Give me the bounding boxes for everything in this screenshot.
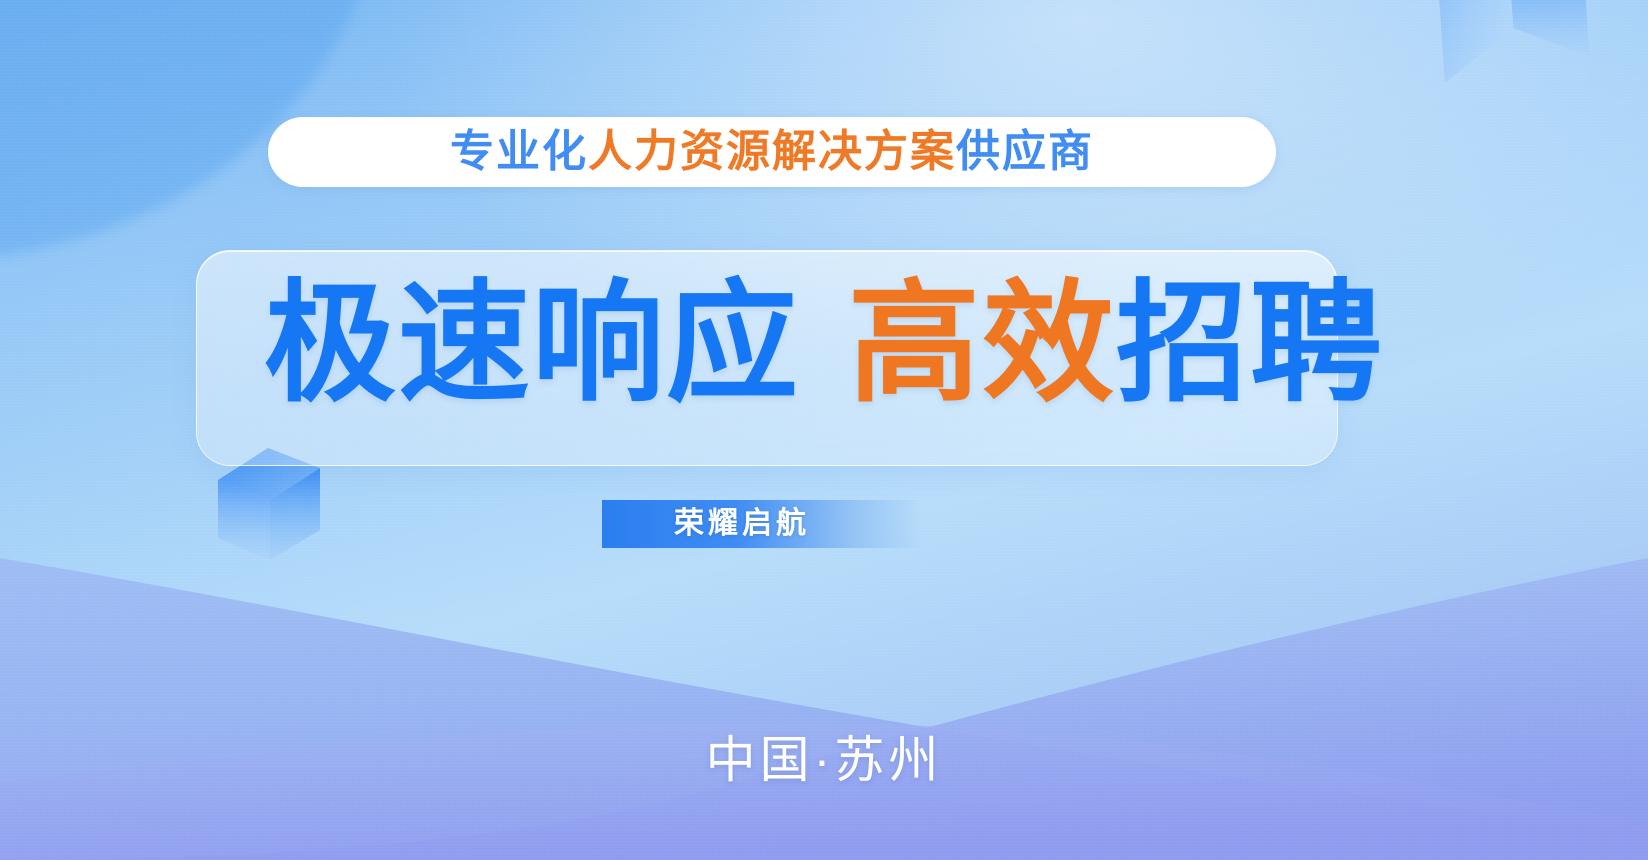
subtitle-pill: 专业化人力资源解决方案供应商 [268,117,1276,187]
subtitle-segment-3: 供应商 [956,127,1094,176]
page-title: 极速响应高效招聘 [0,278,1648,410]
subtitle-segment-1: 专业化 [450,127,588,176]
location-label: 中国·苏州 [0,735,1648,785]
subtitle-segment-2: 人力资源解决方案 [588,127,956,176]
status-badge: 荣耀启航 [602,500,922,548]
headline-segment-3: 招聘 [1116,267,1384,421]
subtitle-text: 专业化人力资源解决方案供应商 [450,130,1094,174]
promo-banner: 专业化人力资源解决方案供应商 极速响应高效招聘 荣耀启航 中国·苏州 [0,0,1648,860]
ribbon-label: 荣耀启航 [674,509,810,539]
wave-band-mid [0,530,1648,860]
cube-icon [1377,0,1648,175]
headline-segment-2: 高效 [848,267,1116,421]
headline-segment-1: 极速响应 [264,267,800,421]
